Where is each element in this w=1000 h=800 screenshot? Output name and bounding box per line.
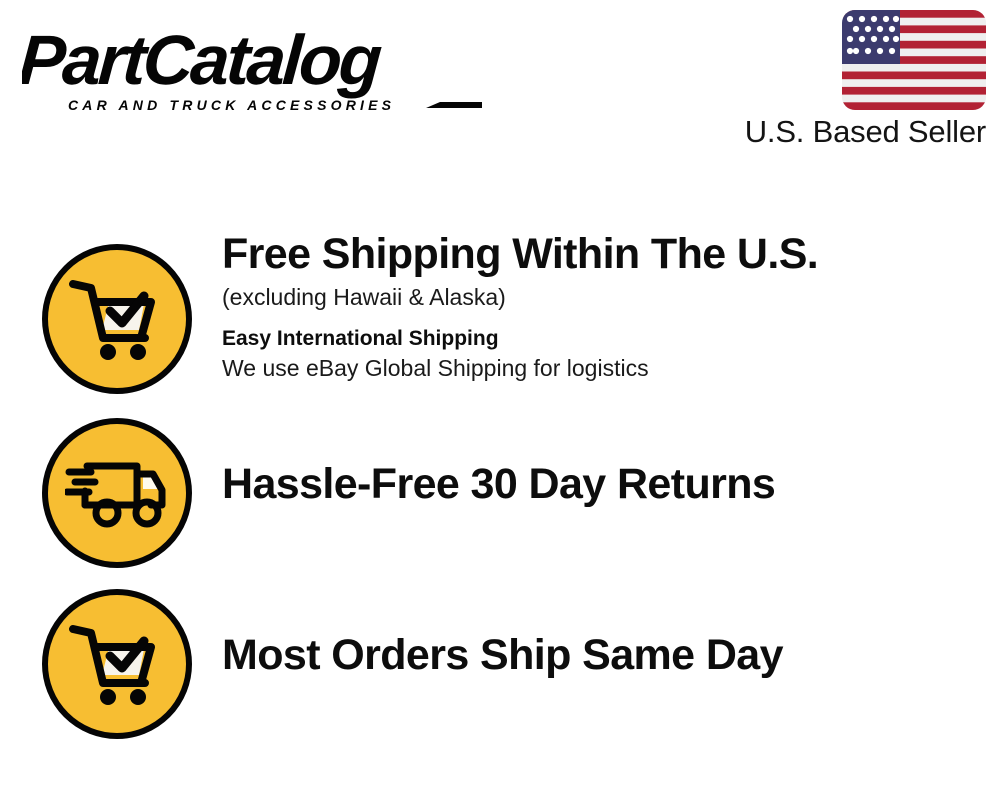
shopping-cart-check-icon <box>42 244 192 394</box>
page-header: PartCatalog CAR AND TRUCK ACCESSORIES <box>0 0 1000 170</box>
brand-logo[interactable]: PartCatalog CAR AND TRUCK ACCESSORIES <box>22 18 492 118</box>
shopping-cart-check-icon <box>42 589 192 739</box>
feature-subheading-international: Easy International Shipping <box>222 326 992 352</box>
delivery-truck-icon <box>42 418 192 568</box>
feature-title-shipping: Free Shipping Within The U.S. <box>222 232 992 277</box>
us-flag-badge <box>842 10 986 110</box>
logo-tagline: CAR AND TRUCK ACCESSORIES <box>68 97 395 113</box>
feature-title-returns: Hassle-Free 30 Day Returns <box>222 462 992 507</box>
svg-text:CAR AND TRUCK ACCESSORIES: CAR AND TRUCK ACCESSORIES <box>68 97 395 113</box>
us-based-seller-label: U.S. Based Seller <box>745 114 986 150</box>
feature-subtitle-shipping: (excluding Hawaii & Alaska) <box>222 283 992 312</box>
feature-title-sameday: Most Orders Ship Same Day <box>222 633 992 678</box>
svg-text:PartCatalog: PartCatalog <box>22 21 384 99</box>
us-flag-icon <box>842 10 986 110</box>
feature-text-returns: Hassle-Free 30 Day Returns <box>222 406 992 507</box>
feature-text-shipping: Free Shipping Within The U.S. (excluding… <box>222 232 992 383</box>
logo-wordmark: PartCatalog <box>22 21 384 99</box>
logo-swash <box>426 102 482 108</box>
feature-detail-international: We use eBay Global Shipping for logistic… <box>222 354 992 383</box>
feature-text-sameday: Most Orders Ship Same Day <box>222 577 992 678</box>
